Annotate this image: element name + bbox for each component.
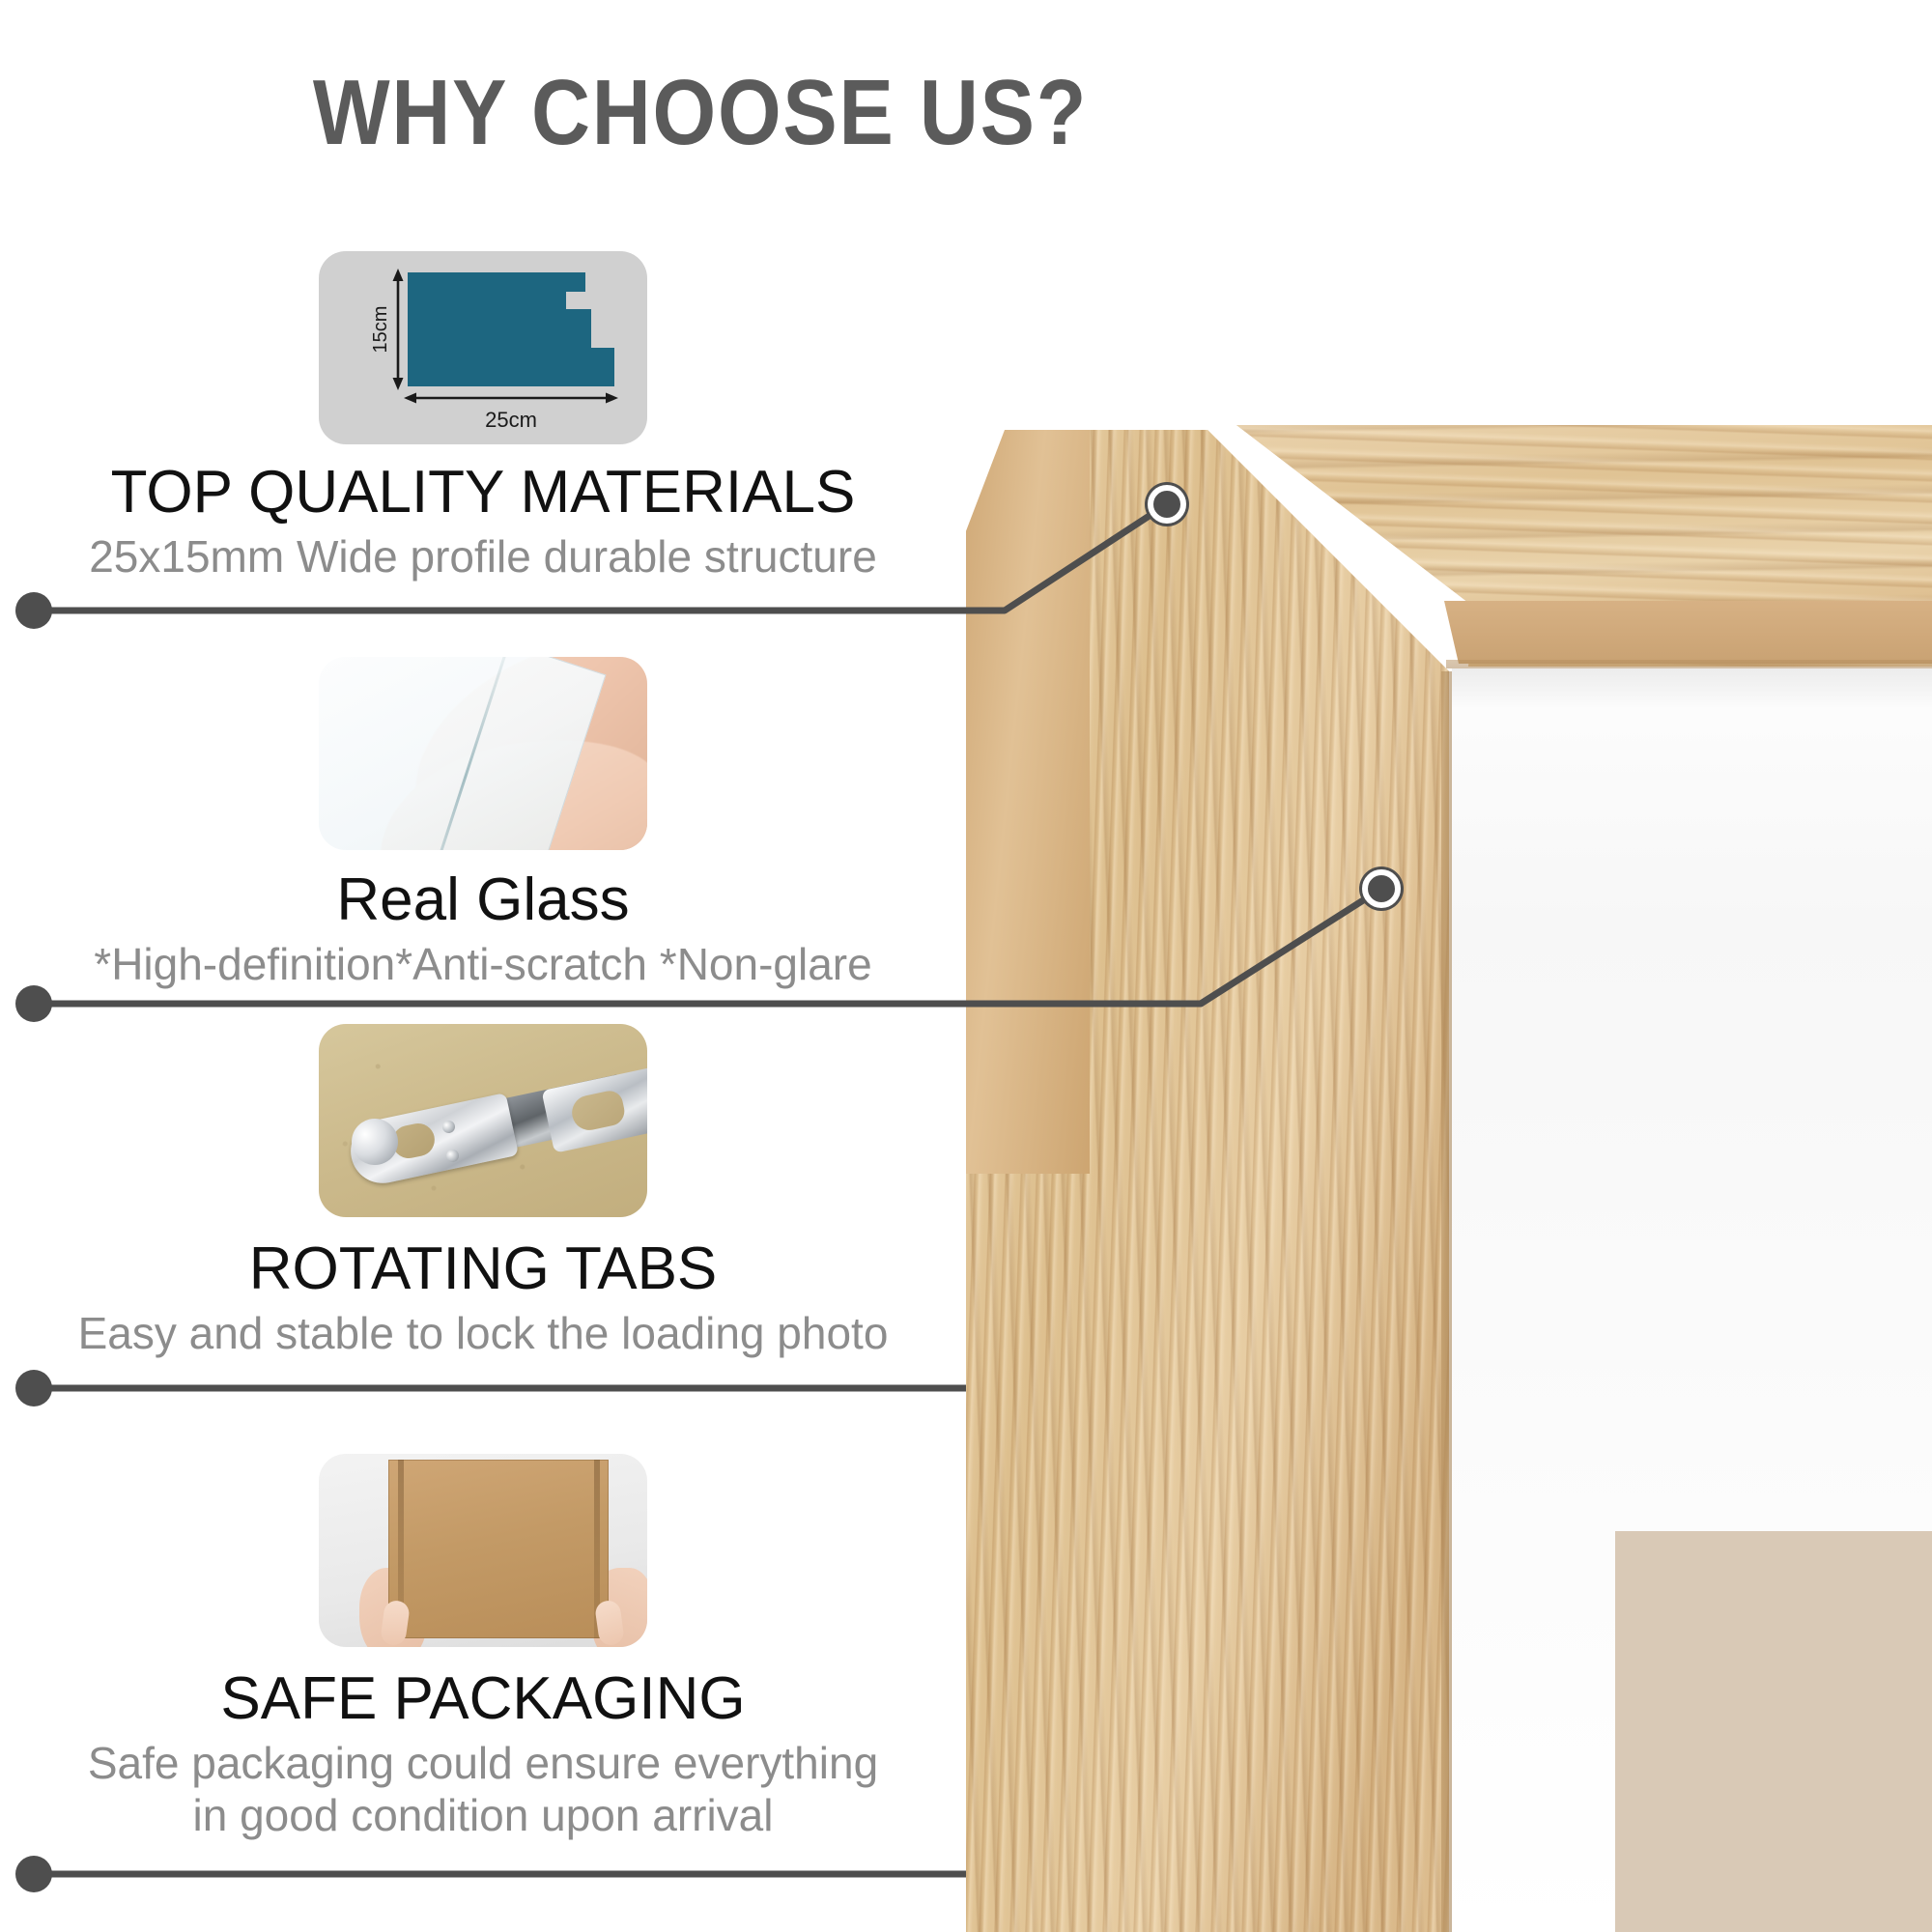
frame-inner-taupe-mat [1615, 1531, 1932, 1932]
frame-white-mat-shadow [1452, 668, 1932, 707]
frame-mitre-end-cap [966, 430, 1090, 1174]
feature-safe-packaging: SAFE PACKAGING Safe packaging could ensu… [0, 1454, 966, 1842]
product-frame-photo [966, 338, 1932, 1932]
carton-box-illustration [388, 1460, 609, 1638]
feature-real-glass: Real Glass *High-definition*Anti-scratch… [0, 657, 966, 990]
leader-line-safe-packaging [15, 1856, 966, 1892]
frame-profile-diagram: 15cm 25cm [319, 251, 647, 444]
safe-packaging-photo-thumbnail [319, 1454, 647, 1647]
feature-subtitle-top-quality-materials: 25x15mm Wide profile durable structure [0, 530, 966, 582]
leader-line-rotating-tabs [15, 1370, 966, 1406]
feature-title-rotating-tabs: ROTATING TABS [0, 1235, 966, 1303]
page-title: WHY CHOOSE US? [84, 60, 1317, 166]
feature-top-quality-materials: 15cm 25cm TOP QUALITY MATERIALS 25x15mm … [0, 251, 966, 582]
frame-stile-seam [1441, 671, 1452, 1932]
feature-rotating-tabs: ROTATING TABS Easy and stable to lock th… [0, 1024, 966, 1359]
feature-subtitle-safe-packaging-line2: in good condition upon arrival [0, 1789, 966, 1841]
feature-title-safe-packaging: SAFE PACKAGING [0, 1664, 966, 1733]
feature-subtitle-rotating-tabs: Easy and stable to lock the loading phot… [0, 1307, 966, 1359]
feature-subtitle-safe-packaging-line1: Safe packaging could ensure everything [0, 1737, 966, 1789]
diagram-width-label: 25cm [485, 408, 537, 432]
feature-title-top-quality-materials: TOP QUALITY MATERIALS [0, 458, 966, 526]
infographic-canvas: WHY CHOOSE US? [0, 0, 1932, 1932]
rotating-tab-photo-thumbnail [319, 1024, 647, 1217]
feature-title-real-glass: Real Glass [0, 866, 966, 934]
feature-subtitle-real-glass: *High-definition*Anti-scratch *Non-glare [0, 938, 966, 990]
frame-profile-diagram-thumbnail: 15cm 25cm [319, 251, 647, 444]
frame-top-seam [1446, 660, 1932, 668]
diagram-height-label: 15cm [370, 306, 391, 354]
real-glass-photo-thumbnail [319, 657, 647, 850]
